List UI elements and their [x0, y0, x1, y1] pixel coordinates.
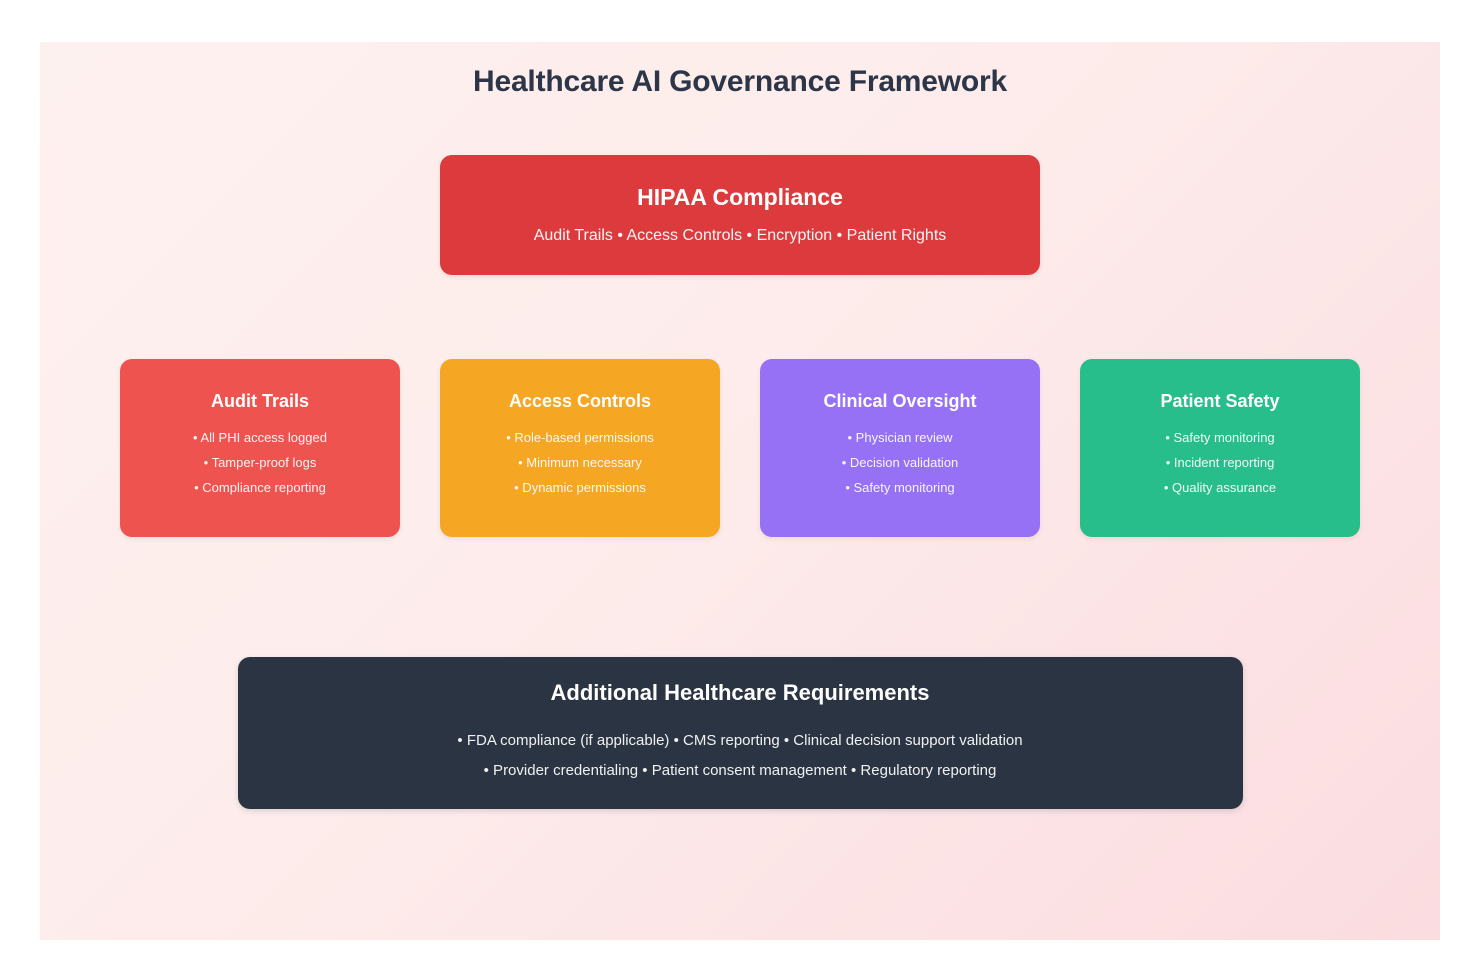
- hipaa-banner-title: HIPAA Compliance: [637, 184, 843, 211]
- bullet-item: • Minimum necessary: [454, 451, 706, 476]
- pillar-card-bullets: • All PHI access logged • Tamper-proof l…: [134, 426, 386, 501]
- bullet-item: • Decision validation: [774, 451, 1026, 476]
- pillar-card-clinical-oversight[interactable]: Clinical Oversight • Physician review • …: [760, 359, 1040, 537]
- additional-requirements-panel[interactable]: Additional Healthcare Requirements • FDA…: [238, 657, 1243, 809]
- page-title: Healthcare AI Governance Framework: [40, 65, 1440, 99]
- pillar-card-bullets: • Role-based permissions • Minimum neces…: [454, 426, 706, 501]
- pillar-card-title: Access Controls: [509, 391, 651, 412]
- bullet-item: • Compliance reporting: [134, 476, 386, 501]
- bullet-item: • Safety monitoring: [774, 476, 1026, 501]
- bullet-item: • Safety monitoring: [1094, 426, 1346, 451]
- bullet-item: • Dynamic permissions: [454, 476, 706, 501]
- bullet-item: • Quality assurance: [1094, 476, 1346, 501]
- bullet-item: • Tamper-proof logs: [134, 451, 386, 476]
- hipaa-banner-subtitle: Audit Trails • Access Controls • Encrypt…: [534, 225, 947, 247]
- bullet-item: • Incident reporting: [1094, 451, 1346, 476]
- bullet-item: • Physician review: [774, 426, 1026, 451]
- pillar-cards-row: Audit Trails • All PHI access logged • T…: [40, 359, 1440, 537]
- additional-requirements-line: • Provider credentialing • Patient conse…: [484, 756, 997, 786]
- pillar-card-title: Audit Trails: [211, 391, 309, 412]
- bullet-item: • All PHI access logged: [134, 426, 386, 451]
- pillar-card-bullets: • Safety monitoring • Incident reporting…: [1094, 426, 1346, 501]
- hipaa-compliance-banner[interactable]: HIPAA Compliance Audit Trails • Access C…: [440, 155, 1040, 275]
- additional-requirements-title: Additional Healthcare Requirements: [551, 680, 930, 706]
- hipaa-banner-row: HIPAA Compliance Audit Trails • Access C…: [40, 155, 1440, 275]
- additional-requirements-line: • FDA compliance (if applicable) • CMS r…: [457, 726, 1022, 756]
- pillar-card-patient-safety[interactable]: Patient Safety • Safety monitoring • Inc…: [1080, 359, 1360, 537]
- pillar-card-title: Patient Safety: [1160, 391, 1279, 412]
- pillar-card-audit-trails[interactable]: Audit Trails • All PHI access logged • T…: [120, 359, 400, 537]
- bullet-item: • Role-based permissions: [454, 426, 706, 451]
- pillar-card-access-controls[interactable]: Access Controls • Role-based permissions…: [440, 359, 720, 537]
- additional-requirements-row: Additional Healthcare Requirements • FDA…: [40, 657, 1440, 809]
- pillar-card-title: Clinical Oversight: [823, 391, 976, 412]
- pillar-card-bullets: • Physician review • Decision validation…: [774, 426, 1026, 501]
- diagram-canvas: Healthcare AI Governance Framework HIPAA…: [40, 42, 1440, 940]
